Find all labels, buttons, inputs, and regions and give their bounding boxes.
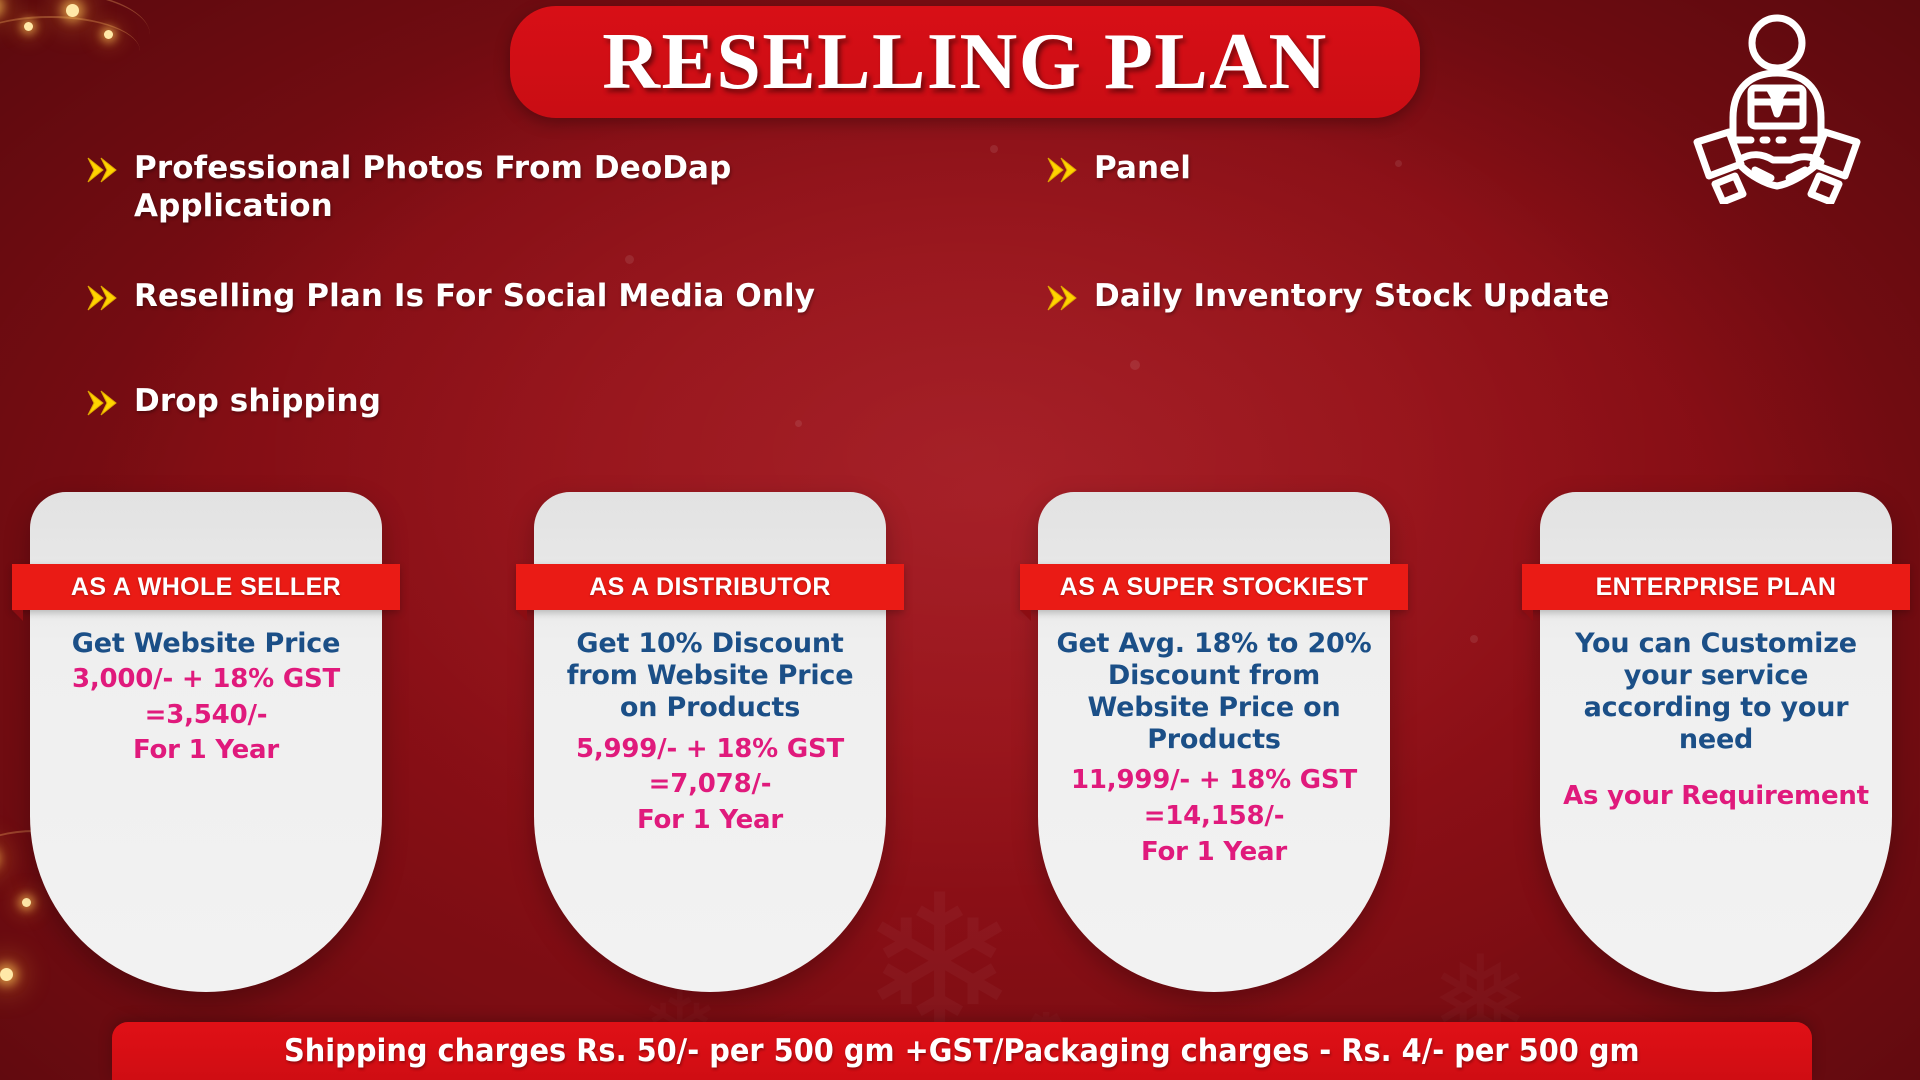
plan-ribbon-label: AS A DISTRIBUTOR	[589, 573, 831, 602]
plan-ribbon-label: AS A SUPER STOCKIEST	[1060, 573, 1369, 602]
plan-headline: Get Website Price	[46, 628, 366, 660]
plan-card-distributor[interactable]: AS A DISTRIBUTOR Get 10% Discount from W…	[534, 492, 886, 992]
footer-charges-text: Shipping charges Rs. 50/- per 500 gm +GS…	[284, 1033, 1640, 1069]
plan-card-super-stockiest[interactable]: AS A SUPER STOCKIEST Get Avg. 18% to 20%…	[1038, 492, 1390, 992]
plan-price-line: =3,540/-	[46, 700, 366, 732]
double-chevron-icon	[1046, 283, 1080, 318]
plan-price-line: For 1 Year	[46, 735, 366, 767]
double-chevron-icon	[86, 283, 120, 318]
plan-ribbon-label: AS A WHOLE SELLER	[71, 573, 341, 602]
feature-item-daily-inventory: Daily Inventory Stock Update	[1046, 278, 1610, 318]
feature-item-professional-photos: Professional Photos From DeoDap Applicat…	[86, 150, 846, 226]
feature-label: Daily Inventory Stock Update	[1094, 278, 1610, 316]
plan-card-group: AS A WHOLE SELLER Get Website Price 3,00…	[0, 492, 1920, 1002]
feature-item-social-media-only: Reselling Plan Is For Social Media Only	[86, 278, 815, 318]
double-chevron-icon	[86, 155, 120, 190]
plan-price-line: 3,000/- + 18% GST	[46, 664, 366, 696]
double-chevron-icon	[86, 388, 120, 423]
page-title: RESELLING PLAN	[602, 17, 1328, 108]
feature-item-drop-shipping: Drop shipping	[86, 383, 381, 423]
plan-price-line: 5,999/- + 18% GST	[550, 734, 870, 766]
plan-ribbon: AS A SUPER STOCKIEST	[1020, 564, 1408, 610]
plan-card-body: Get Website Price 3,000/- + 18% GST =3,5…	[30, 620, 382, 767]
feature-label: Panel	[1094, 150, 1191, 188]
footer-charges-banner: Shipping charges Rs. 50/- per 500 gm +GS…	[112, 1022, 1812, 1080]
feature-label: Professional Photos From DeoDap Applicat…	[134, 150, 846, 226]
page-title-banner: RESELLING PLAN	[510, 6, 1420, 118]
plan-headline: Get Avg. 18% to 20% Discount from Websit…	[1054, 628, 1374, 755]
plan-card-whole-seller[interactable]: AS A WHOLE SELLER Get Website Price 3,00…	[30, 492, 382, 992]
plan-price-line: For 1 Year	[550, 805, 870, 837]
plan-ribbon: ENTERPRISE PLAN	[1522, 564, 1910, 610]
feature-label: Reselling Plan Is For Social Media Only	[134, 278, 815, 316]
feature-label: Drop shipping	[134, 383, 381, 421]
plan-ribbon-label: ENTERPRISE PLAN	[1596, 573, 1837, 602]
plan-price-line: 11,999/- + 18% GST	[1054, 765, 1374, 797]
fairy-lights-top-left	[0, 0, 180, 132]
plan-price-line: =14,158/-	[1054, 801, 1374, 833]
feature-list: Professional Photos From DeoDap Applicat…	[86, 150, 1766, 440]
plan-ribbon: AS A DISTRIBUTOR	[516, 564, 904, 610]
plan-ribbon: AS A WHOLE SELLER	[12, 564, 400, 610]
plan-price-line: As your Requirement	[1556, 781, 1876, 813]
plan-card-body: You can Customize your service according…	[1540, 620, 1892, 813]
plan-price-line: For 1 Year	[1054, 837, 1374, 869]
plan-card-body: Get Avg. 18% to 20% Discount from Websit…	[1038, 620, 1390, 869]
poster-canvas: ❄ ❅ ❆ ❄ RESELLING PLAN	[0, 0, 1920, 1080]
plan-headline: Get 10% Discount from Website Price on P…	[550, 628, 870, 724]
feature-item-panel: Panel	[1046, 150, 1191, 190]
plan-card-body: Get 10% Discount from Website Price on P…	[534, 620, 886, 837]
plan-price-line: =7,078/-	[550, 769, 870, 801]
plan-headline: You can Customize your service according…	[1556, 628, 1876, 755]
plan-card-enterprise[interactable]: ENTERPRISE PLAN You can Customize your s…	[1540, 492, 1892, 992]
double-chevron-icon	[1046, 155, 1080, 190]
